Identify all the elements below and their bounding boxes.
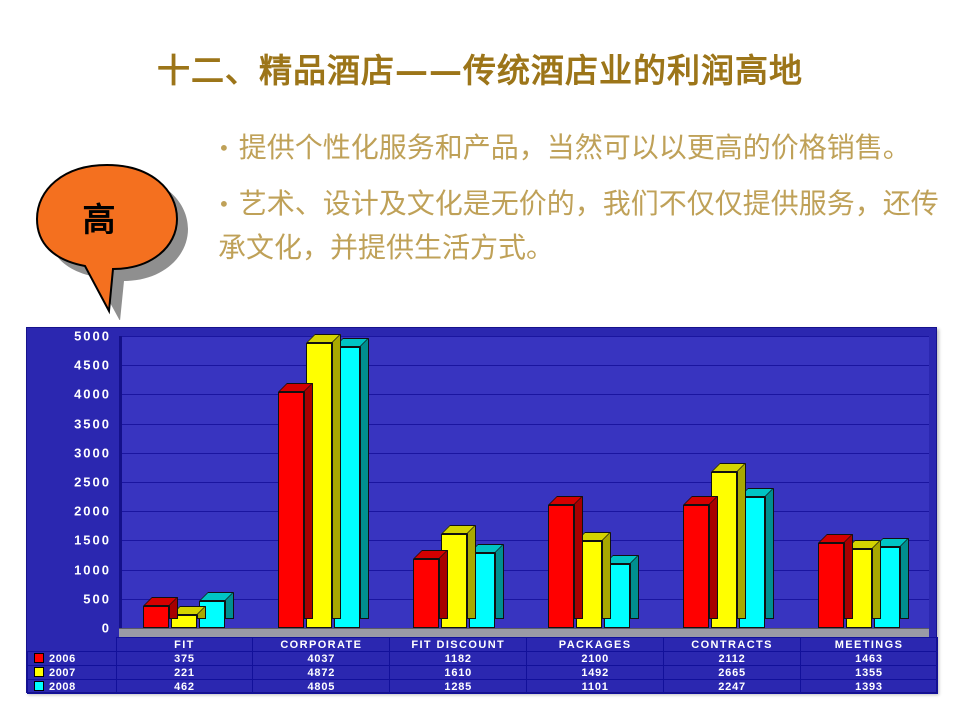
bar-2006-contracts (683, 505, 709, 628)
y-axis-tick-label: 2500 (39, 475, 111, 490)
bar-2006-fit (143, 606, 169, 628)
y-axis-tick-label: 5000 (39, 329, 111, 344)
bar-side-face (467, 525, 476, 619)
table-cell: 221 (116, 666, 253, 680)
bar-front-face (548, 505, 574, 628)
bar-group (797, 336, 932, 628)
bullet-item-2: • 艺术、设计及文化是无价的，我们不仅仅提供服务，还传承文化，并提供生活方式。 (218, 182, 956, 269)
y-axis-tick-label: 500 (39, 591, 111, 606)
bar-side-face (844, 534, 853, 619)
table-cell: 1393 (801, 680, 938, 694)
table-header-row: FITCORPORATEFIT DISCOUNTPACKAGESCONTRACT… (28, 638, 938, 652)
legend-label: 2008 (49, 681, 76, 693)
bar-group (122, 336, 257, 628)
bar-side-face (495, 544, 504, 619)
table-row: 200637540371182210021121463 (28, 652, 938, 666)
y-axis-tick-label: 0 (39, 621, 111, 636)
chart-data-table: FITCORPORATEFIT DISCOUNTPACKAGESCONTRACT… (27, 637, 938, 693)
data-table: FITCORPORATEFIT DISCOUNTPACKAGESCONTRACT… (27, 637, 938, 694)
bar-2006-fit-discount (413, 559, 439, 628)
table-row: 200846248051285110122471393 (28, 680, 938, 694)
bar-front-face (683, 505, 709, 628)
bar-2006-packages (548, 505, 574, 628)
table-cell: 462 (116, 680, 253, 694)
legend-entry-2006[interactable]: 2006 (28, 652, 117, 666)
y-axis: 5000450040003500300025002000150010005000 (31, 328, 111, 628)
table-corner-cell (28, 638, 117, 652)
bullet-text-1: 提供个性化服务和产品，当然可以以更高的价格销售。 (239, 131, 911, 164)
table-cell: 4805 (253, 680, 390, 694)
table-cell: 1101 (527, 680, 664, 694)
bar-group (257, 336, 392, 628)
table-cell: 2100 (527, 652, 664, 666)
plot-area (119, 336, 929, 628)
table-cell: 2112 (664, 652, 801, 666)
bullet-marker: • (218, 136, 230, 160)
y-axis-tick-label: 4000 (39, 387, 111, 402)
table-column-header: CORPORATE (253, 638, 390, 652)
y-axis-tick-label: 1500 (39, 533, 111, 548)
table-cell: 1492 (527, 666, 664, 680)
plot-inner (122, 336, 929, 628)
bar-chart: 5000450040003500300025002000150010005000… (26, 327, 937, 693)
bar-front-face (818, 543, 844, 628)
table-column-header: CONTRACTS (664, 638, 801, 652)
legend-swatch-icon (34, 681, 44, 691)
legend-entry-2008[interactable]: 2008 (28, 680, 117, 694)
bar-front-face (278, 392, 304, 628)
slide: 十二、精品酒店——传统酒店业的利润高地 • 提供个性化服务和产品，当然可以以更高… (0, 0, 960, 720)
bar-front-face (413, 559, 439, 628)
bullet-marker: • (218, 192, 230, 216)
speech-bubble-callout: 高 (25, 155, 205, 320)
bar-side-face (900, 538, 909, 619)
legend-swatch-icon (34, 667, 44, 677)
bar-side-face (630, 555, 639, 619)
bar-side-face (439, 550, 448, 619)
bar-side-face (737, 463, 746, 619)
table-cell: 1610 (390, 666, 527, 680)
legend-label: 2006 (49, 653, 76, 665)
y-axis-tick-label: 3000 (39, 445, 111, 460)
y-axis-tick-label: 4500 (39, 358, 111, 373)
bar-side-face (574, 496, 583, 619)
legend-swatch-icon (34, 653, 44, 663)
table-cell: 2665 (664, 666, 801, 680)
table-row: 200722148721610149226651355 (28, 666, 938, 680)
y-axis-tick-label: 2000 (39, 504, 111, 519)
table-body: 2006375403711822100211214632007221487216… (28, 652, 938, 694)
table-column-header: PACKAGES (527, 638, 664, 652)
callout-label: 高 (25, 193, 173, 241)
bar-group (527, 336, 662, 628)
table-cell: 1285 (390, 680, 527, 694)
table-cell: 1463 (801, 652, 938, 666)
table-cell: 4037 (253, 652, 390, 666)
table-cell: 2247 (664, 680, 801, 694)
table-column-header: FIT (116, 638, 253, 652)
y-axis-tick-label: 3500 (39, 416, 111, 431)
bar-group (392, 336, 527, 628)
bar-2006-corporate (278, 392, 304, 628)
legend-label: 2007 (49, 667, 76, 679)
table-cell: 375 (116, 652, 253, 666)
bar-side-face (872, 540, 881, 619)
y-axis-tick-label: 1000 (39, 562, 111, 577)
bar-side-face (602, 532, 611, 619)
bar-2006-meetings (818, 543, 844, 628)
bar-side-face (332, 334, 341, 619)
bullet-list: • 提供个性化服务和产品，当然可以以更高的价格销售。 • 艺术、设计及文化是无价… (218, 126, 956, 281)
legend-entry-2007[interactable]: 2007 (28, 666, 117, 680)
bullet-text-2: 艺术、设计及文化是无价的，我们不仅仅提供服务，还传承文化，并提供生活方式。 (218, 187, 939, 264)
bar-side-face (709, 496, 718, 619)
bullet-item-1: • 提供个性化服务和产品，当然可以以更高的价格销售。 (218, 126, 956, 170)
bar-group (662, 336, 797, 628)
page-title: 十二、精品酒店——传统酒店业的利润高地 (0, 44, 960, 92)
table-cell: 1355 (801, 666, 938, 680)
bar-side-face (304, 383, 313, 619)
table-cell: 4872 (253, 666, 390, 680)
bar-side-face (765, 488, 774, 619)
table-column-header: FIT DISCOUNT (390, 638, 527, 652)
table-column-header: MEETINGS (801, 638, 938, 652)
bar-side-face (360, 338, 369, 619)
table-cell: 1182 (390, 652, 527, 666)
bar-front-face (143, 606, 169, 628)
